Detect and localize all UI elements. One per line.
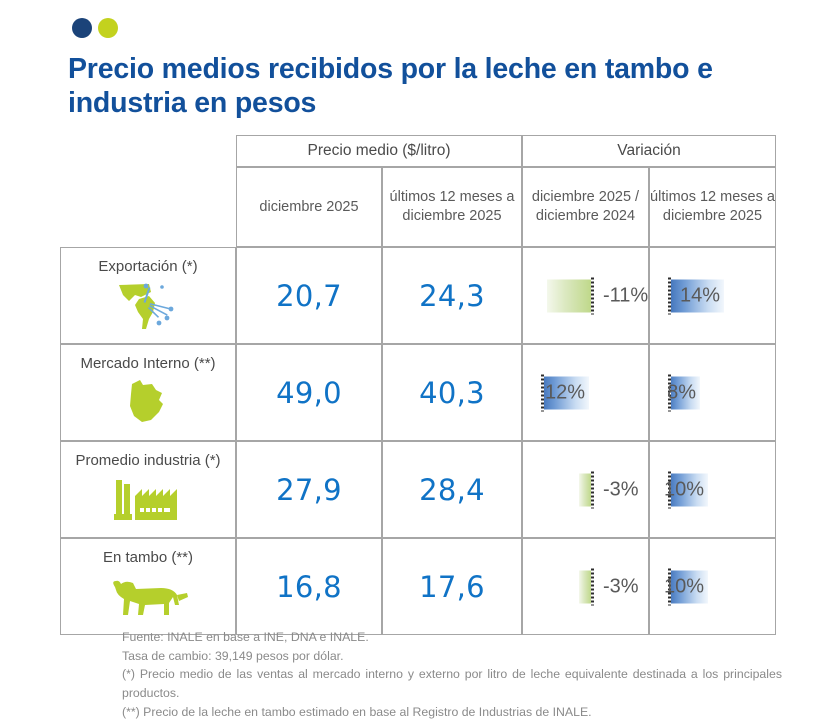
row-label: Mercado Interno (**): [61, 355, 235, 373]
variation-value-label: 10%: [664, 575, 704, 598]
variation-dec-cell: -3%: [522, 538, 649, 635]
variation-bar-negative: [579, 570, 591, 603]
group-header-precio-medio: Precio medio ($/litro): [236, 135, 522, 167]
price-dec-cell: 27,9: [236, 441, 382, 538]
row-label-cell: Promedio industria (*): [60, 441, 236, 538]
variation-value-label: 8%: [667, 381, 696, 404]
table-header: Precio medio ($/litro) Variación diciemb…: [60, 135, 776, 247]
cow-icon: [103, 571, 193, 623]
uruguay-map-icon: [118, 376, 178, 430]
cow-icon: [61, 569, 235, 625]
footnote-one-star: (*) Precio medio de las ventas al mercad…: [122, 665, 782, 702]
footnote-two-stars: (**) Precio de la leche en tambo estimad…: [122, 703, 782, 721]
lime-dot: [98, 18, 118, 38]
variation-value-label: -11%: [603, 284, 648, 307]
table-body: Exportación (*) 20,724,3-11%14%Mercado I…: [60, 247, 776, 635]
variation-axis-line: [668, 277, 671, 314]
variation-axis-line: [541, 374, 544, 411]
footnotes: Fuente: INALE en base a INE, DNA e INALE…: [122, 628, 782, 721]
table-row: Exportación (*) 20,724,3-11%14%: [60, 247, 776, 344]
variation-bar-negative: [579, 473, 591, 506]
table-row: Promedio industria (*) 27,928,4-3%10%: [60, 441, 776, 538]
variation-bar-negative: [547, 279, 591, 312]
variation-value-label: 14%: [680, 284, 720, 307]
variation-value-label: -3%: [603, 478, 639, 501]
variation-dec-cell: -3%: [522, 441, 649, 538]
sub-header-variacion-diciembre: diciembre 2025 / diciembre 2024: [522, 167, 649, 247]
factory-icon: [108, 474, 188, 526]
variation-12m-cell: 10%: [649, 441, 776, 538]
variation-axis-line: [591, 471, 594, 508]
price-12m-cell: 28,4: [382, 441, 522, 538]
variation-value-label: -3%: [603, 575, 639, 598]
sub-header-ultimos-12-meses-a: últimos 12 meses a diciembre 2025: [382, 167, 522, 247]
price-table-container: Precio medio ($/litro) Variación diciemb…: [60, 135, 776, 635]
corner-cell: [60, 135, 236, 167]
price-12m-cell: 17,6: [382, 538, 522, 635]
price-12m-cell: 24,3: [382, 247, 522, 344]
price-table: Precio medio ($/litro) Variación diciemb…: [60, 135, 776, 635]
table-sub-header-row: diciembre 2025 últimos 12 meses a diciem…: [60, 167, 776, 247]
row-label-cell: Mercado Interno (**): [60, 344, 236, 441]
sub-header-variacion-12-meses: últimos 12 meses a diciembre 2025: [649, 167, 776, 247]
price-12m-cell: 40,3: [382, 344, 522, 441]
variation-axis-line: [591, 277, 594, 314]
row-label: Promedio industria (*): [61, 452, 235, 470]
brand-dots: [72, 18, 118, 38]
corner-cell-2: [60, 167, 236, 247]
footnote-source: Fuente: INALE en base a INE, DNA e INALE…: [122, 628, 782, 647]
variation-dec-cell: -11%: [522, 247, 649, 344]
uruguay-map-icon: [61, 375, 235, 431]
navy-dot: [72, 18, 92, 38]
table-row: En tambo (**) 16,817,6-3%10%: [60, 538, 776, 635]
row-label: Exportación (*): [61, 258, 235, 276]
factory-icon: [61, 472, 235, 528]
variation-dec-cell: 12%: [522, 344, 649, 441]
americas-map-icon: [61, 278, 235, 334]
variation-axis-line: [591, 568, 594, 605]
price-dec-cell: 16,8: [236, 538, 382, 635]
row-label-cell: En tambo (**): [60, 538, 236, 635]
row-label-cell: Exportación (*): [60, 247, 236, 344]
variation-12m-cell: 8%: [649, 344, 776, 441]
table-group-header-row: Precio medio ($/litro) Variación: [60, 135, 776, 167]
variation-12m-cell: 10%: [649, 538, 776, 635]
price-dec-cell: 20,7: [236, 247, 382, 344]
price-dec-cell: 49,0: [236, 344, 382, 441]
americas-map-icon: [105, 279, 191, 333]
table-row: Mercado Interno (**) 49,040,312%8%: [60, 344, 776, 441]
footnote-exchange-rate: Tasa de cambio: 39,149 pesos por dólar.: [122, 647, 782, 666]
page-title: Precio medios recibidos por la leche en …: [68, 52, 808, 120]
variation-12m-cell: 14%: [649, 247, 776, 344]
variation-value-label: 10%: [664, 478, 704, 501]
group-header-variacion: Variación: [522, 135, 776, 167]
sub-header-diciembre-2025: diciembre 2025: [236, 167, 382, 247]
row-label: En tambo (**): [61, 549, 235, 567]
variation-value-label: 12%: [545, 381, 585, 404]
